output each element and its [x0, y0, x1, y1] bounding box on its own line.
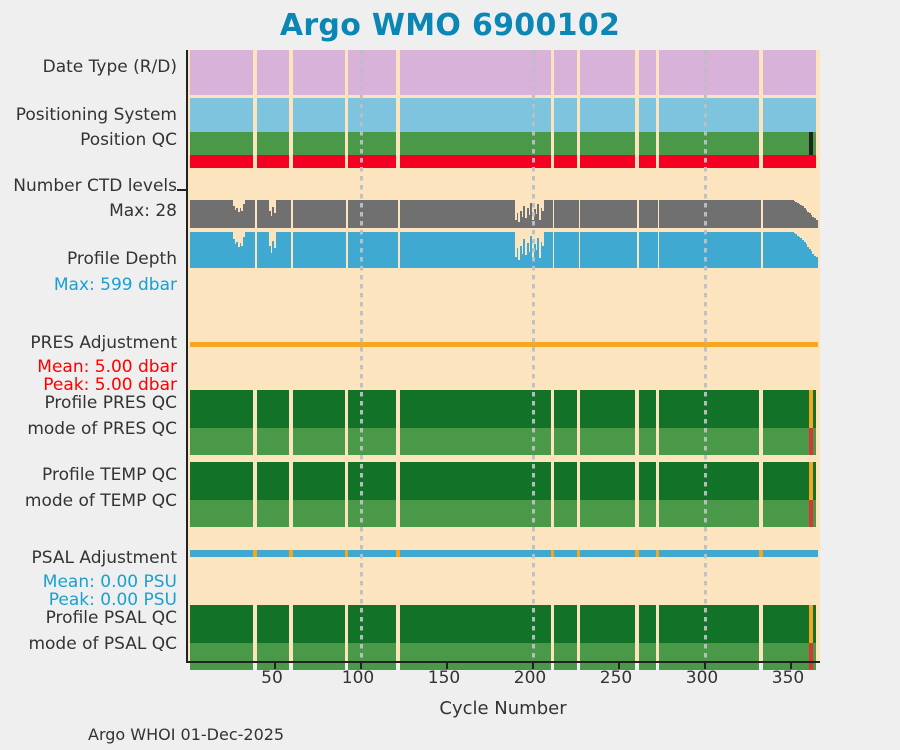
band-segment	[580, 390, 635, 428]
band-segment	[190, 390, 254, 428]
value-bar	[759, 232, 761, 268]
band-segment	[190, 342, 818, 347]
x-tick-label-100: 100	[342, 668, 374, 688]
y-label-number_ctd_levels-0: Number CTD levels	[13, 177, 177, 195]
plot-area	[186, 50, 819, 662]
band-segment	[639, 643, 656, 670]
band-pres-adjustment	[188, 342, 821, 347]
band-segment	[659, 605, 759, 643]
value-bar	[396, 200, 398, 228]
band-segment	[659, 155, 759, 168]
qc-flag-red	[809, 643, 813, 670]
band-segment	[659, 428, 759, 455]
band-segment	[190, 98, 254, 132]
y-label-positioning_system-0: Positioning System	[16, 106, 177, 124]
y-label-profile_psal_qc-0: Profile PSAL QC	[46, 609, 177, 627]
band-number-ctd-levels	[188, 200, 821, 228]
band-segment	[190, 550, 254, 557]
gridline-300	[704, 50, 707, 662]
band-segment	[348, 643, 396, 670]
band-segment	[190, 643, 254, 670]
band-segment	[580, 500, 635, 527]
band-segment	[190, 462, 254, 500]
band-segment	[639, 550, 656, 557]
value-bar	[635, 200, 637, 228]
plot-right-edge	[819, 50, 820, 662]
band-segment	[639, 428, 656, 455]
value-bar	[656, 200, 658, 228]
ctd-max-tick	[177, 189, 186, 191]
band-segment	[763, 50, 816, 95]
value-bar	[759, 200, 761, 228]
band-segment	[257, 132, 290, 156]
band-segment	[554, 643, 576, 670]
band-segment	[659, 50, 759, 95]
band-segment	[190, 155, 254, 168]
band-segment	[763, 500, 816, 527]
band-segment	[348, 500, 396, 527]
band-segment	[293, 605, 345, 643]
value-bar	[635, 232, 637, 268]
band-segment	[348, 390, 396, 428]
y-label-profile_temp_qc-0: Profile TEMP QC	[42, 466, 177, 484]
band-segment	[639, 605, 656, 643]
band-segment	[580, 550, 635, 557]
band-segment	[659, 550, 759, 557]
psal-adjust-gap-marker	[759, 550, 762, 557]
psal-adjust-gap-marker	[345, 550, 348, 557]
band-segment	[293, 390, 345, 428]
band-segment	[554, 390, 576, 428]
band-segment	[348, 550, 396, 557]
band-segment	[257, 50, 290, 95]
band-segment	[190, 500, 254, 527]
band-segment	[659, 390, 759, 428]
band-segment	[190, 50, 254, 95]
band-segment	[400, 462, 551, 500]
band-red-marker	[188, 155, 821, 168]
x-tick-350	[790, 662, 792, 669]
band-segment	[257, 390, 290, 428]
band-segment	[580, 428, 635, 455]
band-profile-psal-qc	[188, 605, 821, 643]
band-segment	[763, 462, 816, 500]
band-segment	[348, 50, 396, 95]
y-label-number_ctd_levels-1: Max: 28	[109, 202, 177, 220]
band-psal-adjustment	[188, 550, 821, 557]
band-segment	[257, 428, 290, 455]
band-segment	[293, 550, 345, 557]
band-segment	[639, 462, 656, 500]
band-segment	[257, 462, 290, 500]
band-segment	[659, 462, 759, 500]
band-segment	[659, 98, 759, 132]
band-segment	[400, 550, 551, 557]
band-profile-temp-qc	[188, 462, 821, 500]
band-segment	[580, 605, 635, 643]
band-date-type	[188, 50, 821, 95]
band-segment	[348, 462, 396, 500]
y-label-profile_pres_qc-1: mode of PRES QC	[27, 420, 177, 438]
band-segment	[293, 98, 345, 132]
band-segment	[400, 50, 551, 95]
value-bar	[551, 232, 553, 268]
band-segment	[639, 500, 656, 527]
band-mode-psal-qc	[188, 643, 821, 670]
y-label-psal_adjustment-1: Mean: 0.00 PSU	[43, 573, 177, 591]
band-segment	[293, 462, 345, 500]
value-bar	[816, 257, 818, 268]
value-bar	[253, 200, 255, 228]
band-segment	[554, 98, 576, 132]
footer-credit: Argo WHOI 01-Dec-2025	[88, 725, 284, 744]
value-bar	[551, 200, 553, 228]
band-segment	[763, 98, 816, 132]
band-segment	[400, 428, 551, 455]
band-segment	[348, 98, 396, 132]
band-segment	[639, 50, 656, 95]
band-segment	[348, 605, 396, 643]
x-tick-label-300: 300	[686, 668, 718, 688]
y-label-date_type-0: Date Type (R/D)	[43, 58, 177, 76]
argo-float-summary-figure: Argo WMO 6900102 Date Type (R/D)Position…	[0, 0, 900, 750]
value-bar	[289, 232, 291, 268]
band-segment	[554, 50, 576, 95]
x-tick-150	[446, 662, 448, 669]
qc-flag-orange	[809, 605, 813, 643]
band-segment	[348, 155, 396, 168]
band-segment	[554, 605, 576, 643]
band-segment	[257, 98, 290, 132]
band-segment	[580, 462, 635, 500]
psal-adjust-gap-marker	[289, 550, 292, 557]
band-segment	[190, 132, 254, 156]
band-segment	[257, 155, 290, 168]
band-segment	[580, 132, 635, 156]
y-label-psal_adjustment-2: Peak: 0.00 PSU	[49, 591, 177, 609]
x-tick-300	[704, 662, 706, 669]
value-bar	[253, 232, 255, 268]
gridline-100	[360, 50, 363, 662]
band-segment	[293, 132, 345, 156]
band-segment	[400, 500, 551, 527]
band-segment	[348, 132, 396, 156]
x-tick-200	[532, 662, 534, 669]
band-segment	[400, 390, 551, 428]
band-segment	[257, 550, 290, 557]
band-segment	[639, 98, 656, 132]
gridline-200	[532, 50, 535, 662]
y-label-profile_depth-0: Profile Depth	[67, 250, 177, 268]
band-segment	[763, 550, 818, 557]
qc-flag-red	[809, 428, 813, 455]
y-label-profile_psal_qc-1: mode of PSAL QC	[28, 635, 177, 653]
band-segment	[257, 500, 290, 527]
y-label-psal_adjustment-0: PSAL Adjustment	[32, 549, 177, 567]
band-segment	[190, 428, 254, 455]
x-tick-label-250: 250	[600, 668, 632, 688]
band-segment	[400, 643, 551, 670]
x-axis-line	[186, 661, 820, 663]
band-segment	[554, 500, 576, 527]
band-segment	[293, 155, 345, 168]
band-segment	[293, 500, 345, 527]
y-label-pres_adjustment-0: PRES Adjustment	[30, 334, 177, 352]
value-bar	[577, 200, 579, 228]
band-segment	[293, 643, 345, 670]
band-segment	[580, 155, 635, 168]
value-bar	[345, 232, 347, 268]
psal-adjust-gap-marker	[253, 550, 256, 557]
x-tick-label-150: 150	[428, 668, 460, 688]
band-segment	[580, 50, 635, 95]
band-segment	[293, 50, 345, 95]
band-segment	[580, 98, 635, 132]
band-positioning-system	[188, 98, 821, 132]
band-position-qc	[188, 132, 821, 156]
value-bar	[816, 220, 818, 228]
band-segment	[400, 98, 551, 132]
y-label-profile_depth-1: Max: 599 dbar	[54, 276, 177, 294]
y-label-profile_pres_qc-0: Profile PRES QC	[44, 394, 177, 412]
qc-flag-orange	[809, 462, 813, 500]
band-segment	[763, 155, 816, 168]
band-segment	[554, 155, 576, 168]
page-title: Argo WMO 6900102	[0, 8, 900, 43]
value-bar	[345, 200, 347, 228]
band-segment	[293, 428, 345, 455]
band-segment	[348, 428, 396, 455]
band-segment	[763, 132, 816, 156]
psal-adjust-gap-marker	[396, 550, 399, 557]
x-tick-100	[360, 662, 362, 669]
band-segment	[190, 605, 254, 643]
x-axis-title: Cycle Number	[186, 698, 820, 719]
band-segment	[659, 643, 759, 670]
band-segment	[400, 155, 551, 168]
band-mode-pres-qc	[188, 428, 821, 455]
band-segment	[580, 643, 635, 670]
value-bar	[577, 232, 579, 268]
y-label-positioning_system-1: Position QC	[80, 131, 177, 149]
band-segment	[659, 132, 759, 156]
y-label-pres_adjustment-2: Peak: 5.00 dbar	[43, 376, 177, 394]
band-profile-depth	[188, 232, 821, 268]
psal-adjust-gap-marker	[577, 550, 580, 557]
band-segment	[400, 605, 551, 643]
value-bar	[396, 232, 398, 268]
band-segment	[763, 428, 816, 455]
band-segment	[554, 550, 576, 557]
band-segment	[639, 390, 656, 428]
y-label-profile_temp_qc-1: mode of TEMP QC	[25, 492, 177, 510]
band-profile-pres-qc	[188, 390, 821, 428]
band-mode-temp-qc	[188, 500, 821, 527]
qc-flag-orange	[809, 390, 813, 428]
band-segment	[763, 605, 816, 643]
y-label-pres_adjustment-1: Mean: 5.00 dbar	[37, 358, 177, 376]
x-tick-label-350: 350	[772, 668, 804, 688]
psal-adjust-gap-marker	[551, 550, 554, 557]
value-bar	[289, 200, 291, 228]
band-segment	[554, 428, 576, 455]
band-segment	[639, 132, 656, 156]
x-tick-label-50: 50	[261, 668, 283, 688]
band-segment	[659, 500, 759, 527]
band-segment	[554, 132, 576, 156]
position-qc-flag	[809, 132, 813, 156]
value-bar	[656, 232, 658, 268]
band-segment	[400, 132, 551, 156]
psal-adjust-gap-marker	[635, 550, 638, 557]
x-tick-50	[274, 662, 276, 669]
qc-flag-red	[809, 500, 813, 527]
band-segment	[763, 390, 816, 428]
psal-adjust-gap-marker	[656, 550, 659, 557]
band-segment	[554, 462, 576, 500]
x-tick-250	[618, 662, 620, 669]
band-segment	[257, 605, 290, 643]
band-segment	[639, 155, 656, 168]
x-tick-label-200: 200	[514, 668, 546, 688]
